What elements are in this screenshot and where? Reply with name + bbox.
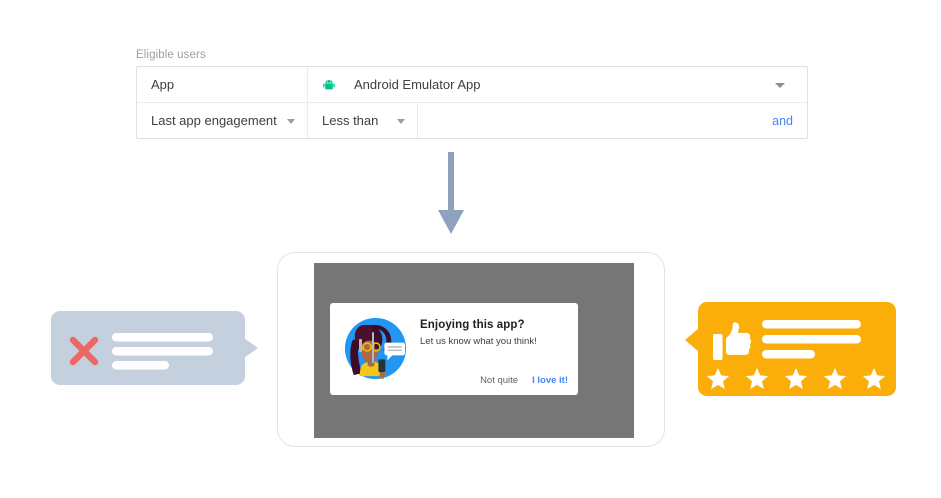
dialog-actions: Not quite I love it!: [480, 375, 568, 386]
conditions-box: App Android Emulator App Last app engage…: [136, 66, 808, 139]
dialog-title: Enjoying this app?: [420, 319, 525, 331]
dimension-label-app: App: [151, 77, 174, 92]
condition-row-engagement: Last app engagement Less than and: [137, 102, 807, 138]
down-arrow-icon: [430, 152, 472, 236]
positive-feedback-callout: [684, 302, 896, 396]
dialog-positive-button[interactable]: I love it!: [532, 375, 568, 386]
eligible-users-label: Eligible users: [136, 48, 808, 66]
chevron-down-icon[interactable]: [775, 83, 785, 88]
positive-callout-pointer: [685, 328, 699, 352]
chevron-down-icon[interactable]: [397, 119, 405, 124]
negative-callout-pointer: [244, 338, 258, 358]
dialog-negative-button[interactable]: Not quite: [480, 375, 518, 386]
dialog-subtitle: Let us know what you think!: [420, 336, 537, 347]
targeting-form: Eligible users App Android Emulator App: [136, 48, 808, 139]
phone-button-large[interactable]: [372, 332, 374, 363]
phone-mockup: Enjoying this app? Let us know what you …: [277, 252, 665, 447]
dimension-select-app[interactable]: App: [137, 67, 307, 102]
negative-feedback-callout: [51, 311, 261, 385]
and-conjunction-link[interactable]: and: [772, 114, 793, 128]
rating-dialog: Enjoying this app? Let us know what you …: [330, 303, 578, 395]
value-select-app[interactable]: Android Emulator App: [307, 67, 807, 102]
dimension-label-engagement: Last app engagement: [151, 113, 277, 128]
condition-row-app: App Android Emulator App: [137, 67, 807, 102]
woman-with-phone-avatar: [341, 314, 410, 383]
operator-label: Less than: [322, 113, 378, 128]
phone-button-small[interactable]: [359, 339, 362, 352]
value-label-app: Android Emulator App: [354, 77, 480, 92]
android-robot-icon: [322, 78, 336, 92]
value-input-engagement[interactable]: and: [418, 103, 807, 138]
chevron-down-icon[interactable]: [287, 119, 295, 124]
operator-select[interactable]: Less than: [307, 103, 418, 138]
dimension-select-engagement[interactable]: Last app engagement: [137, 103, 307, 138]
